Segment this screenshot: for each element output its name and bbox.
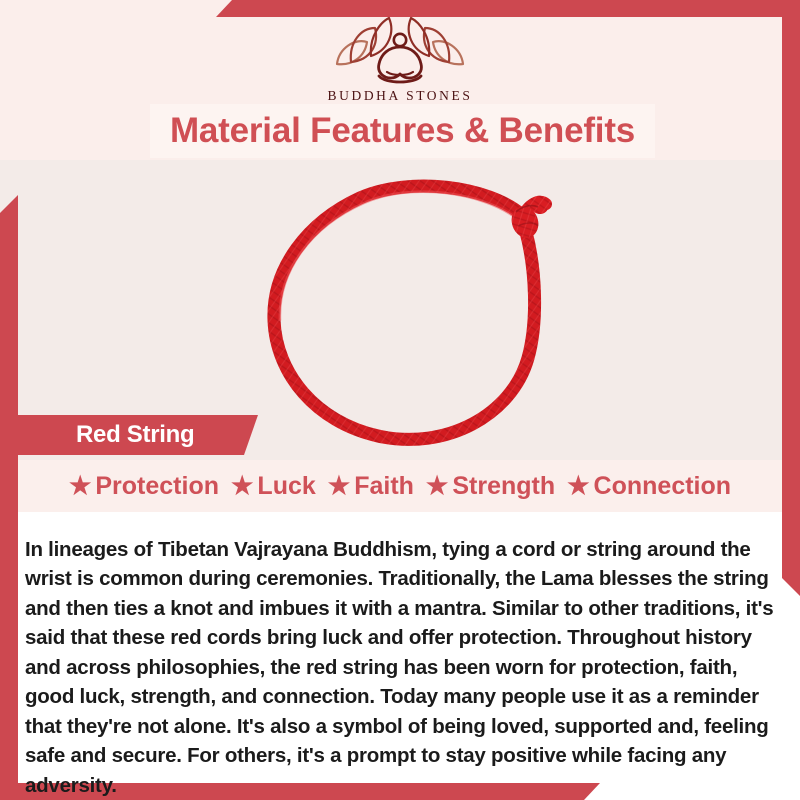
star-icon: ★ — [328, 474, 350, 499]
description-text: In lineages of Tibetan Vajrayana Buddhis… — [25, 535, 775, 800]
benefit-item-protection: ★ Protection — [69, 472, 219, 501]
star-icon: ★ — [69, 474, 91, 499]
product-image — [250, 160, 570, 460]
benefit-label: Connection — [594, 472, 732, 501]
page-title: Material Features & Benefits — [170, 111, 635, 151]
benefits-row: ★ Protection ★ Luck ★ Faith ★ Strength ★… — [0, 466, 800, 506]
product-label: Red String — [76, 421, 194, 449]
star-icon: ★ — [567, 474, 589, 499]
star-icon: ★ — [426, 474, 448, 499]
benefit-label: Faith — [354, 472, 414, 501]
page-title-banner: Material Features & Benefits — [150, 104, 655, 158]
benefit-item-connection: ★ Connection — [555, 472, 731, 501]
product-label-banner: Red String — [18, 415, 258, 455]
star-icon: ★ — [231, 474, 253, 499]
benefit-item-luck: ★ Luck — [219, 472, 316, 501]
benefit-label: Strength — [452, 472, 555, 501]
lotus-meditation-icon — [325, 14, 475, 86]
product-feature-poster: BUDDHA STONES Material Features & Benefi… — [0, 0, 800, 800]
brand-name: BUDDHA STONES — [328, 88, 473, 104]
benefit-label: Luck — [257, 472, 315, 501]
benefit-label: Protection — [95, 472, 219, 501]
benefit-item-faith: ★ Faith — [316, 472, 414, 501]
benefit-item-strength: ★ Strength — [414, 472, 555, 501]
brand-logo: BUDDHA STONES — [0, 14, 800, 104]
